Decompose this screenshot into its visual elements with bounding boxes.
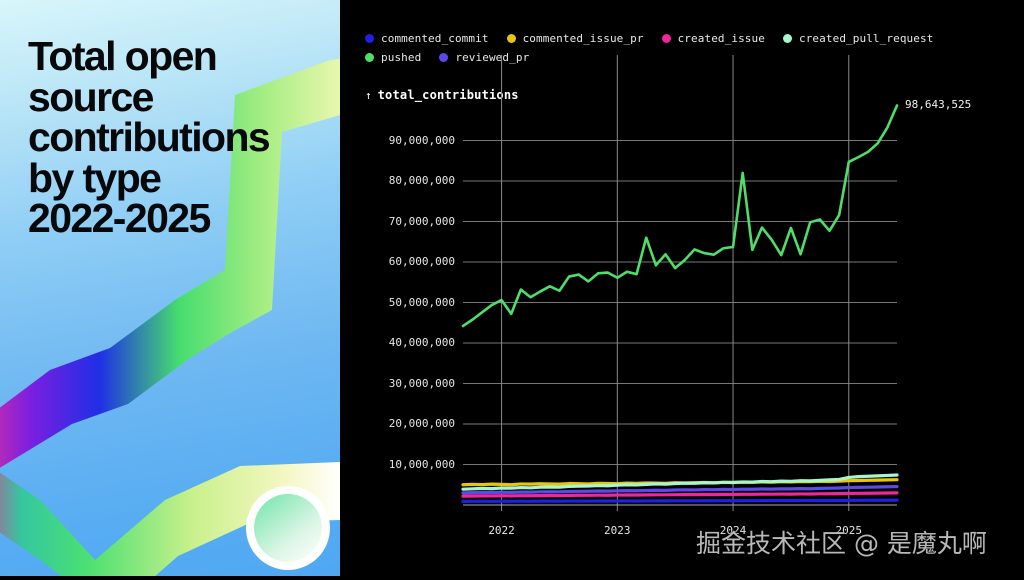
chart-panel: commented_commit commented_issue_pr crea… [340,0,1024,576]
y-axis-tick-label: 50,000,000 [365,296,455,309]
y-axis-tick-label: 90,000,000 [365,134,455,147]
y-axis-tick-label: 40,000,000 [365,336,455,349]
watermark: 掘金技术社区 @ 是魔丸啊 [696,524,987,560]
y-axis-tick-label: 20,000,000 [365,417,455,430]
axis-tick-layer: 10,000,00020,000,00030,000,00040,000,000… [340,0,1024,576]
y-axis-tick-label: 70,000,000 [365,215,455,228]
end-value-annotation: 98,643,525 [905,98,971,111]
page-title: Total open source contributions by type … [28,36,328,239]
y-axis-tick-label: 10,000,000 [365,458,455,471]
y-axis-tick-label: 80,000,000 [365,174,455,187]
y-axis-tick-label: 60,000,000 [365,255,455,268]
plot-area: 10,000,00020,000,00030,000,00040,000,000… [340,0,1024,576]
slide-root: Total open source contributions by type … [0,0,1024,576]
y-axis-tick-label: 30,000,000 [365,377,455,390]
x-axis-tick-label: 2023 [587,524,647,537]
left-title-panel: Total open source contributions by type … [0,0,340,576]
x-axis-tick-label: 2022 [472,524,532,537]
